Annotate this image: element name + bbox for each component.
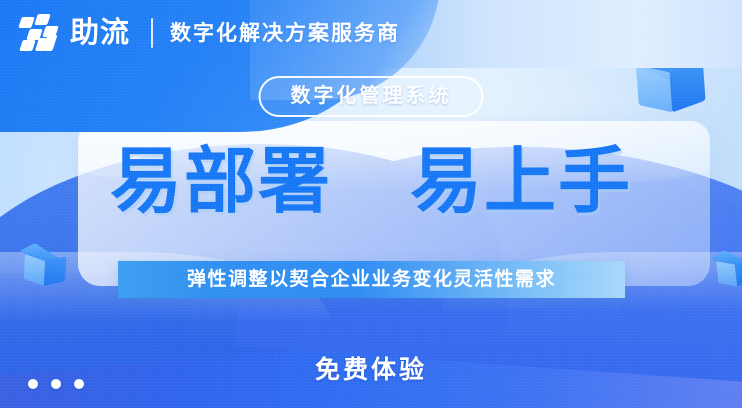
cube-face-right: [44, 256, 67, 286]
lightning-blocks-logo-icon: [18, 13, 62, 53]
brand-logo[interactable]: 助流 数字化解决方案服务商: [18, 10, 400, 56]
carousel-dot-2[interactable]: [51, 379, 61, 389]
header-tagline: 数字化解决方案服务商: [170, 23, 400, 44]
carousel-dot-3[interactable]: [74, 379, 84, 389]
headline-part-2: 易上手: [410, 142, 632, 222]
carousel-dots[interactable]: [28, 379, 84, 389]
subtitle-bar: 弹性调整以契合企业业务变化灵活性需求: [118, 261, 625, 298]
page-title: 易部署 易上手: [0, 146, 742, 218]
vertical-divider-icon: [151, 18, 153, 48]
system-badge: 数字化管理系统: [259, 76, 484, 117]
subtitle-text: 弹性调整以契合企业业务变化灵活性需求: [187, 270, 556, 289]
headline-part-1: 易部署: [110, 142, 332, 222]
promo-banner: 助流 数字化解决方案服务商 数字化管理系统 易部署 易上手 弹性调整以契合企业业…: [0, 0, 742, 408]
cube-face-left: [636, 65, 673, 112]
free-trial-cta[interactable]: 免费体验: [0, 358, 742, 383]
brand-name: 助流: [70, 19, 130, 48]
carousel-dot-1[interactable]: [28, 379, 38, 389]
